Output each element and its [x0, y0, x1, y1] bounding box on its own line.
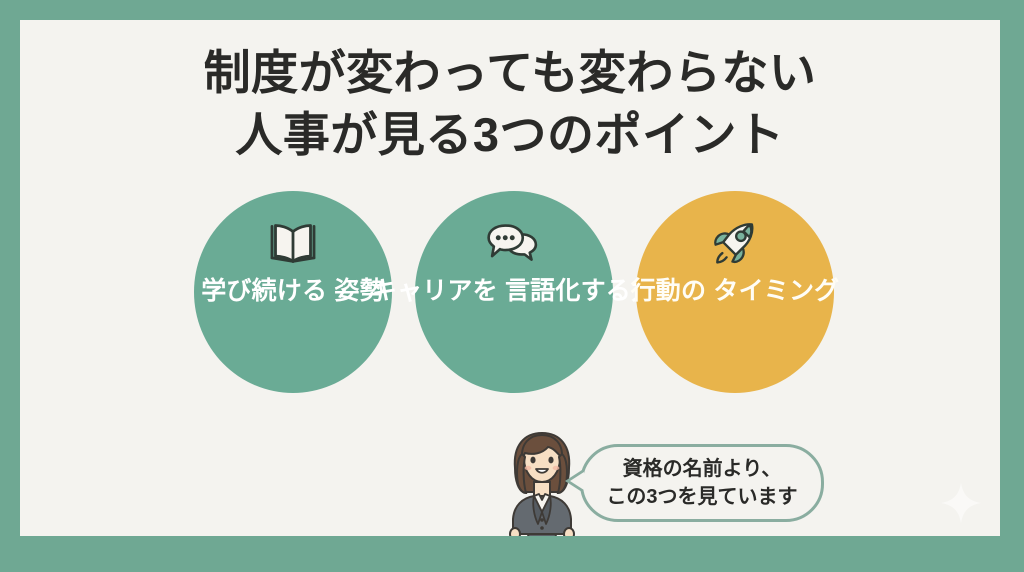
page-title: 制度が変わっても変わらない 人事が見る3つのポイント — [20, 42, 1000, 166]
point-label-career: キャリアを 言語化する力 — [372, 275, 656, 308]
title-line-1: 制度が変わっても変わらない — [20, 42, 1000, 104]
point-label-learning-line1: 学び続ける — [201, 277, 327, 305]
title-line-2: 人事が見る3つのポイント — [20, 104, 1000, 166]
rocket-icon — [706, 217, 764, 269]
point-label-timing-line1: 行動の — [631, 277, 707, 305]
point-circle-learning[interactable]: 学び続ける 姿勢 — [194, 191, 392, 393]
point-label-career-line1: キャリアを — [372, 277, 498, 305]
point-circle-career[interactable]: キャリアを 言語化する力 — [415, 191, 613, 393]
slide-canvas: 制度が変わっても変わらない 人事が見る3つのポイント — [20, 20, 1000, 536]
slide-frame: 制度が変わっても変わらない 人事が見る3つのポイント — [0, 0, 1024, 572]
speech-bubble-line-1: 資格の名前より、 — [623, 455, 782, 483]
points-row: 学び続ける 姿勢 — [194, 191, 834, 393]
point-label-timing-line2: タイミング — [713, 277, 839, 305]
sparkle-icon — [940, 482, 982, 524]
speech-bubbles-icon — [485, 217, 543, 269]
point-label-learning: 学び続ける 姿勢 — [201, 275, 385, 308]
speech-bubble: 資格の名前より、 この3つを見ています — [580, 444, 824, 522]
speech-bubble-line-2: この3つを見ています — [606, 483, 797, 511]
point-label-timing: 行動の タイミング — [631, 275, 840, 308]
point-circle-timing[interactable]: 行動の タイミング — [636, 191, 834, 393]
speech-bubble-text: 資格の名前より、 この3つを見ています — [580, 444, 824, 522]
open-book-icon — [264, 217, 322, 269]
